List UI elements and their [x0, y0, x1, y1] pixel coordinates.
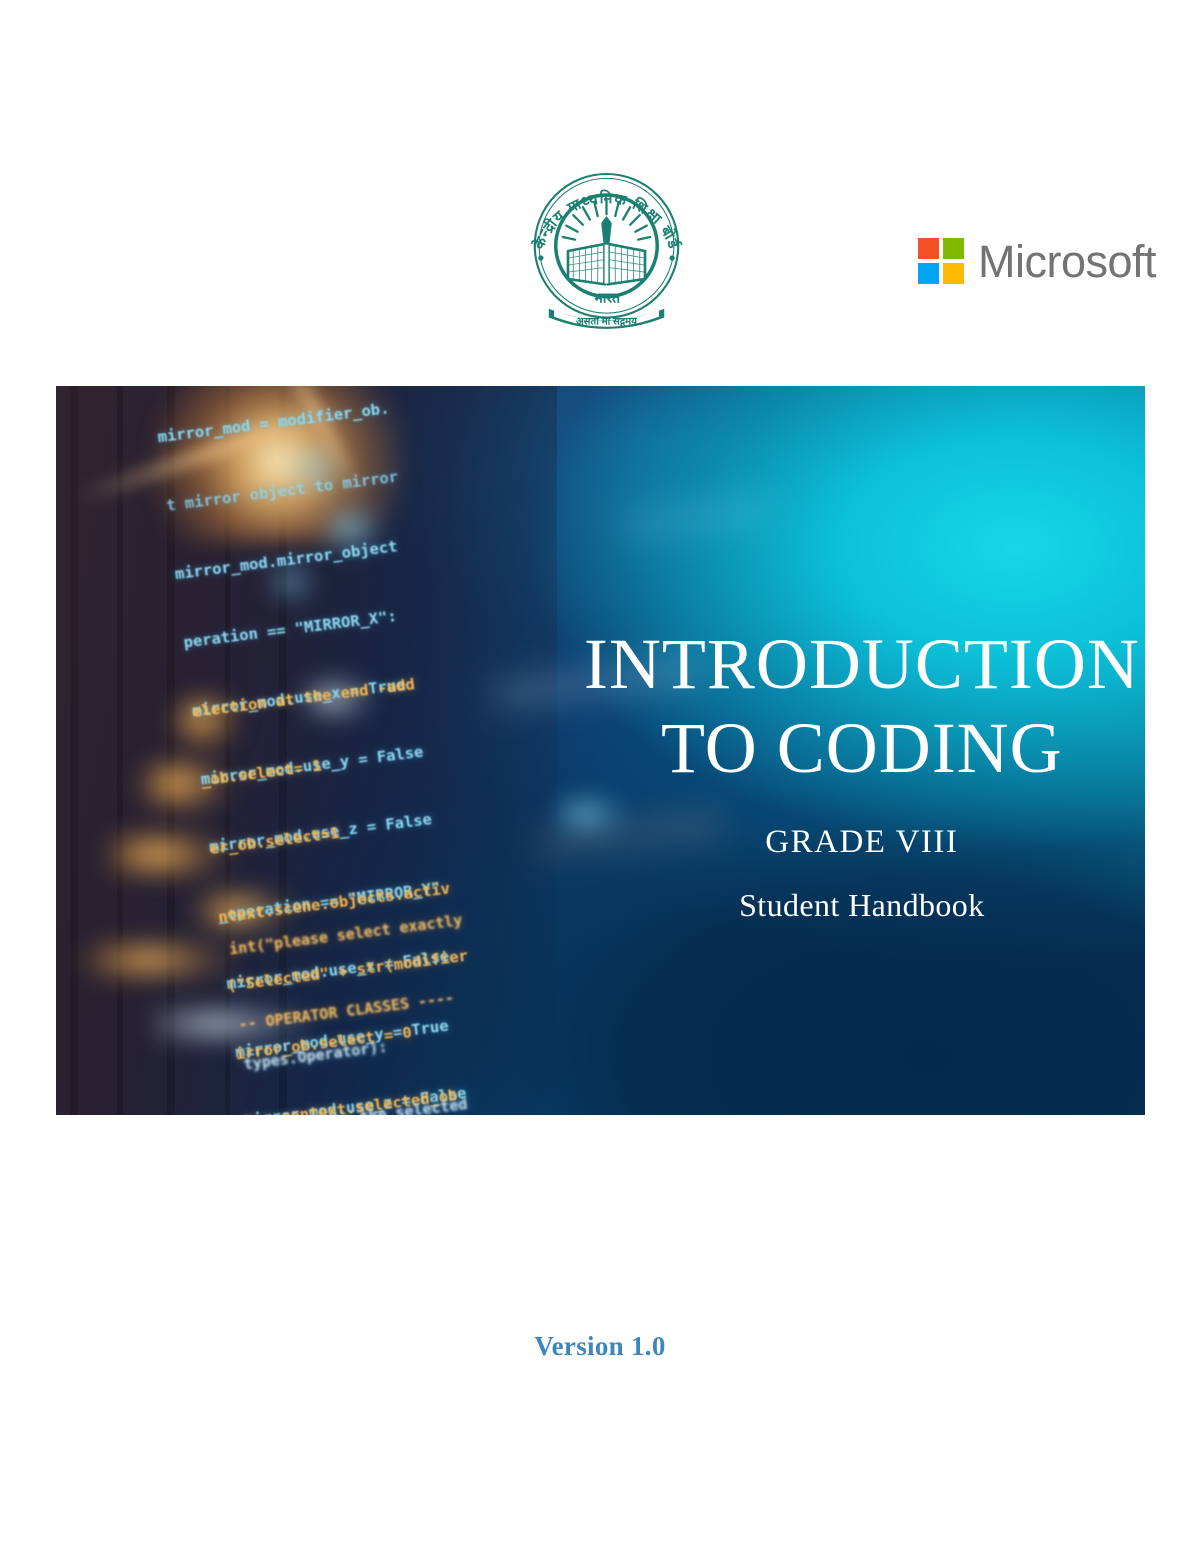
- cover-hero-image: mirror_mod = modifier_ob. t mirror objec…: [56, 386, 1145, 1115]
- document-page: केन्द्रीय माध्यमिक शिक्षा बोर्ड: [0, 0, 1200, 1553]
- bokeh-dot: [89, 947, 239, 973]
- bokeh-dot: [110, 838, 230, 872]
- bokeh-dot: [328, 510, 378, 550]
- version-label: Version 1.0: [0, 1331, 1200, 1362]
- svg-text:भारत: भारत: [593, 290, 621, 306]
- microsoft-squares-icon: [918, 238, 964, 284]
- bokeh-dot: [198, 896, 293, 926]
- svg-text:असतो मा सद्गमय: असतो मा सद्गमय: [576, 315, 638, 328]
- red-square: [918, 238, 939, 259]
- subtitle: Student Handbook: [579, 887, 1145, 924]
- microsoft-wordmark: Microsoft: [978, 239, 1156, 284]
- cover-title-block: INTRODUCTION TO CODING GRADE VIII Studen…: [579, 622, 1145, 924]
- bokeh-dot: [296, 452, 338, 486]
- cbse-logo: केन्द्रीय माध्यमिक शिक्षा बोर्ड: [519, 160, 694, 335]
- bokeh-dot: [154, 1013, 314, 1035]
- bokeh-dot: [143, 765, 229, 805]
- green-square: [943, 238, 964, 259]
- page-title: INTRODUCTION TO CODING: [579, 622, 1145, 790]
- bokeh-dot: [306, 685, 372, 713]
- grade-label: GRADE VIII: [579, 824, 1145, 861]
- bokeh-dot: [176, 699, 236, 745]
- bokeh-dot: [274, 568, 312, 598]
- yellow-square: [943, 263, 964, 284]
- microsoft-logo: Microsoft: [918, 238, 1156, 284]
- blue-square: [918, 263, 939, 284]
